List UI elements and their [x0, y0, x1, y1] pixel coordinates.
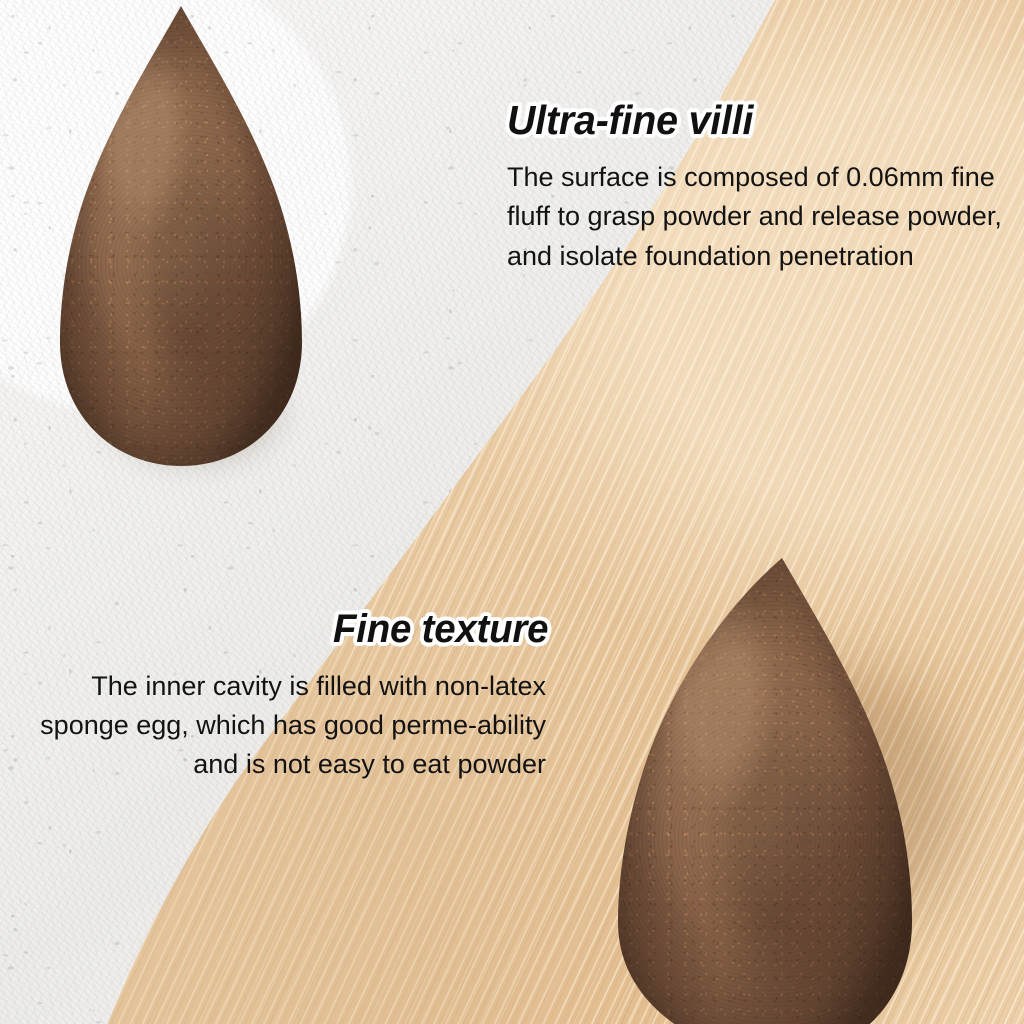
- sponge-lower-rim-shading: [618, 558, 912, 1024]
- callout-body-fine-texture: The inner cavity is filled with non-late…: [0, 667, 560, 784]
- callout-fine-texture: Fine texture The inner cavity is filled …: [0, 608, 560, 785]
- product-feature-image: Ultra-fine villi The surface is composed…: [0, 0, 1024, 1024]
- sponge-lower: [618, 558, 912, 1024]
- callout-heading-fine-texture: Fine texture: [333, 608, 548, 651]
- callout-ultra-fine-villi: Ultra-fine villi The surface is composed…: [507, 98, 1017, 276]
- sponge-upper-rim-shading: [60, 6, 302, 466]
- sponge-upper: [60, 6, 302, 466]
- callout-heading-ultra-fine-villi: Ultra-fine villi: [507, 98, 997, 142]
- callout-body-text: The inner cavity is filled with non-late…: [0, 667, 546, 784]
- callout-body-text: The surface is composed of 0.06mm fine f…: [507, 158, 1017, 275]
- callout-body-ultra-fine-villi: The surface is composed of 0.06mm fine f…: [507, 158, 1017, 275]
